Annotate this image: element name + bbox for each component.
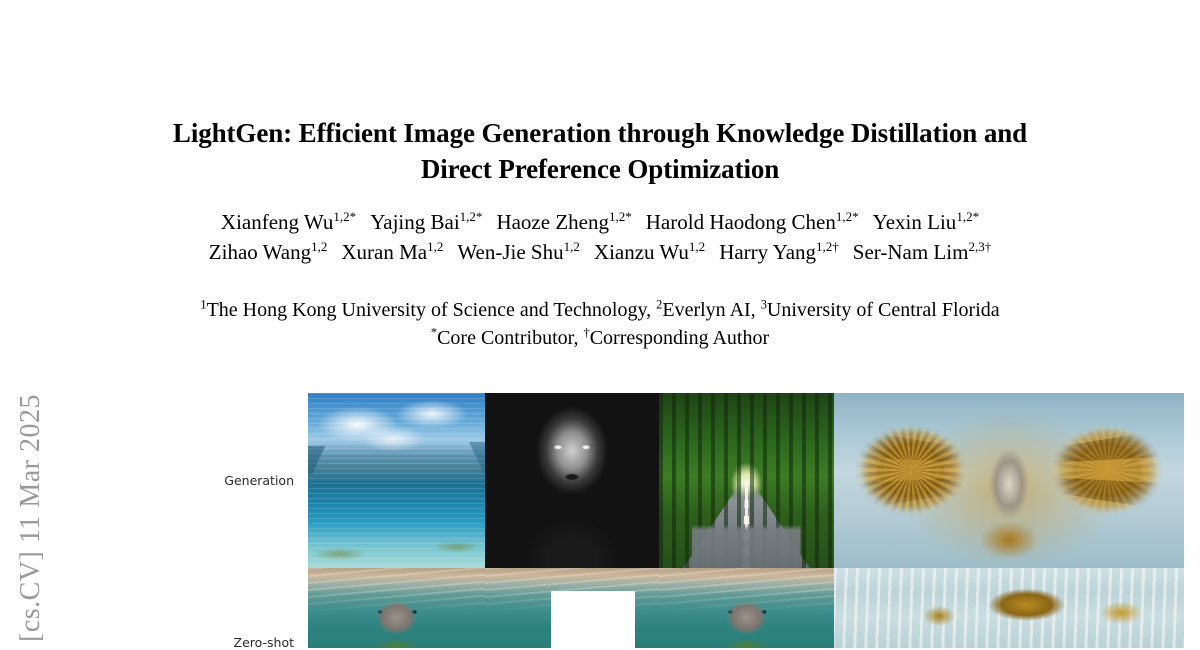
author-name-text: Yexin Liu	[873, 210, 957, 234]
affiliation-block: 1The Hong Kong University of Science and…	[120, 296, 1080, 353]
figure-image-zeroshot-3	[659, 568, 834, 648]
author-name: Yajing Bai1,2*	[370, 208, 482, 238]
portrait-image	[485, 393, 659, 568]
author-name-text: Xianzu Wu	[594, 240, 689, 264]
author-affiliation-marker: 1,2*	[956, 209, 979, 224]
arxiv-stamp: [cs.CV] 11 Mar 2025	[0, 0, 62, 648]
figure-row-zero-shot	[308, 568, 1184, 648]
author-name-text: Haoze Zheng	[496, 210, 609, 234]
author-name: Zihao Wang1,2	[209, 238, 328, 268]
author-name-text: Ser-Nam Lim	[853, 240, 969, 264]
author-name: Yexin Liu1,2*	[873, 208, 979, 238]
author-affiliation-marker: 1,2*	[609, 209, 632, 224]
figure-image-generation-3	[659, 393, 834, 568]
author-name-text: Wen-Jie Shu	[457, 240, 563, 264]
author-name: Wen-Jie Shu1,2	[457, 238, 580, 268]
author-affiliation-marker: 1,2	[427, 239, 443, 254]
author-name: Haoze Zheng1,2*	[496, 208, 631, 238]
affiliation-marker-text: Everlyn AI,	[662, 299, 760, 321]
author-affiliation-marker: 1,2†	[816, 239, 839, 254]
page-title: LightGen: Efficient Image Generation thr…	[140, 116, 1060, 187]
figure-row-label-generation: Generation	[154, 473, 294, 488]
roadway-shape	[659, 484, 834, 568]
author-affiliation-marker: 1,2*	[333, 209, 356, 224]
author-name: Harry Yang1,2†	[719, 238, 839, 268]
author-affiliation-marker: 1,2	[689, 239, 705, 254]
author-name-text: Xuran Ma	[341, 240, 427, 264]
golden-wreck-image	[834, 568, 1184, 648]
author-name: Harold Haodong Chen1,2*	[646, 208, 859, 238]
paper-content-column: LightGen: Efficient Image Generation thr…	[110, 0, 1090, 648]
author-name-text: Zihao Wang	[209, 240, 311, 264]
author-name: Ser-Nam Lim2,3†	[853, 238, 991, 268]
author-footnote-line: *Core Contributor, †Corresponding Author	[120, 324, 1080, 352]
teaser-figure	[308, 393, 1184, 648]
author-name-text: Harold Haodong Chen	[646, 210, 836, 234]
author-affiliation-marker: 1,2	[311, 239, 327, 254]
tree-road-image	[659, 393, 834, 568]
author-name-text: Yajing Bai	[370, 210, 459, 234]
white-occluder-patch	[551, 591, 635, 648]
author-affiliation-marker: 1,2*	[836, 209, 859, 224]
author-affiliation-marker: 1,2	[564, 239, 580, 254]
affiliation-line: 1The Hong Kong University of Science and…	[120, 296, 1080, 324]
seal-image-3	[659, 568, 834, 648]
author-list: Xianfeng Wu1,2*Yajing Bai1,2*Haoze Zheng…	[120, 208, 1080, 268]
affiliation-marker-text: University of Central Florida	[767, 299, 1000, 321]
title-line-2: Direct Preference Optimization	[140, 152, 1060, 188]
author-name-text: Harry Yang	[719, 240, 816, 264]
figure-image-generation-1	[308, 393, 485, 568]
author-affiliation-marker: 2,3†	[968, 239, 991, 254]
steampunk-eagle-image	[834, 393, 1184, 568]
figure-image-generation-2	[485, 393, 659, 568]
seal-image-1	[308, 568, 485, 648]
footnote-marker-text: Core Contributor,	[437, 327, 583, 349]
arxiv-stamp-text: [cs.CV] 11 Mar 2025	[15, 394, 47, 642]
affiliation-marker-text: The Hong Kong University of Science and …	[207, 299, 657, 321]
figure-image-zeroshot-1	[308, 568, 485, 648]
author-affiliation-marker: 1,2*	[460, 209, 483, 224]
road-centerline-shape	[659, 484, 834, 568]
author-name-text: Xianfeng Wu	[221, 210, 334, 234]
author-row-1: Xianfeng Wu1,2*Yajing Bai1,2*Haoze Zheng…	[120, 208, 1080, 238]
figure-image-zeroshot-4	[834, 568, 1184, 648]
title-line-1: LightGen: Efficient Image Generation thr…	[140, 116, 1060, 152]
figure-row-generation	[308, 393, 1184, 568]
figure-image-generation-4	[834, 393, 1184, 568]
author-name: Xuran Ma1,2	[341, 238, 443, 268]
author-name: Xianfeng Wu1,2*	[221, 208, 356, 238]
alpine-lake-image	[308, 393, 485, 568]
author-row-2: Zihao Wang1,2Xuran Ma1,2Wen-Jie Shu1,2Xi…	[120, 238, 1080, 268]
footnote-marker-text: Corresponding Author	[590, 327, 769, 349]
author-name: Xianzu Wu1,2	[594, 238, 705, 268]
